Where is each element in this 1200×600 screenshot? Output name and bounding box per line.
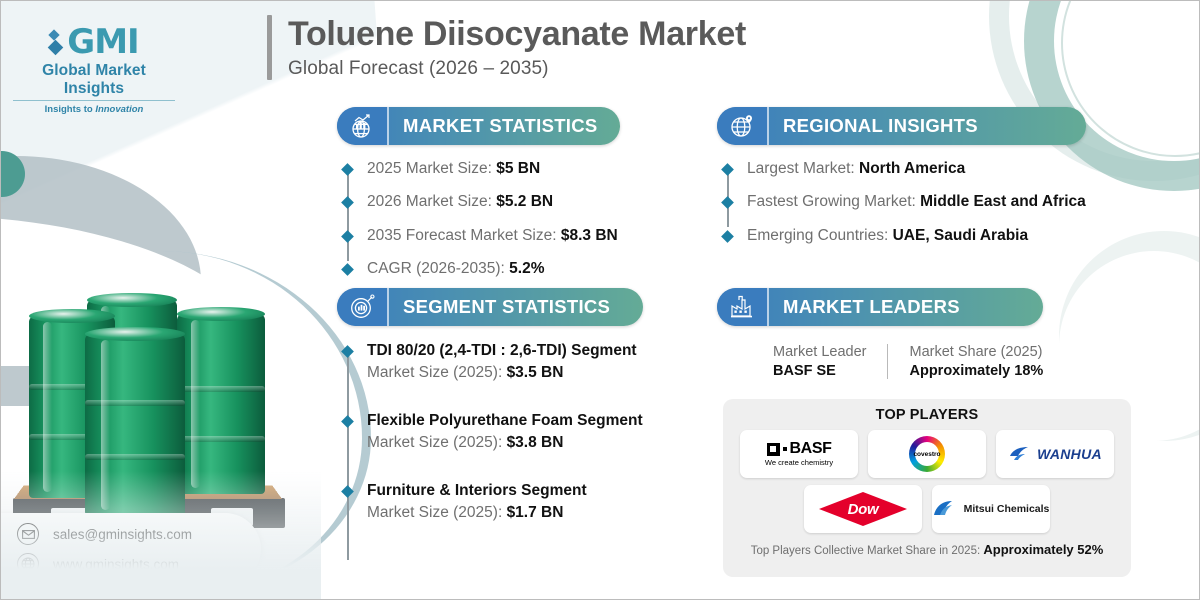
top-players-card: TOP PLAYERS BASF We create chemistry cov… [723,399,1131,577]
list-item-text: Fastest Growing Market: Middle East and … [747,192,1086,211]
contact-website: www.gminsights.com [53,557,179,572]
bullet-diamond-icon [341,163,354,176]
barrel-highlight [43,322,52,492]
barrel-rib [85,400,185,406]
market-share-label: Market Share (2025) [910,344,1044,360]
list-item: 2025 Market Size: $5 BN [367,159,620,178]
bullet-diamond-icon [341,345,354,358]
basf-logo-mark: BASF [765,441,833,457]
list-item-label: 2035 Forecast Market Size: [367,227,561,244]
section-title: SEGMENT STATISTICS [389,296,632,318]
section-header-market-statistics: MARKET STATISTICS [337,107,620,145]
barrel-rib [85,454,185,460]
top-players-row-2: Dow Mitsui Chemicals [735,485,1119,533]
wanhua-mark-icon [1008,445,1032,463]
segment-item: Flexible Polyurethane Foam Segment Marke… [367,412,643,452]
list-item: 2026 Market Size: $5.2 BN [367,192,620,211]
section-header-segment-statistics: SEGMENT STATISTICS [337,288,643,326]
covestro-wordmark: covestro [913,451,940,458]
regional-insights-list: Largest Market: North America Fastest Gr… [717,159,1086,245]
segment-name: Furniture & Interiors Segment [367,482,643,500]
bullet-diamond-icon [721,163,734,176]
list-item-value: 5.2% [509,260,544,277]
list-item-text: Emerging Countries: UAE, Saudi Arabia [747,226,1028,245]
bullet-diamond-icon [721,197,734,210]
bullet-diamond-icon [721,230,734,243]
logo-card-covestro: covestro [868,430,986,478]
segment-size-value: $3.5 BN [507,364,564,381]
list-item-label: Fastest Growing Market: [747,193,920,210]
top-players-footer-label: Top Players Collective Market Share in 2… [751,545,984,557]
list-item-text: CAGR (2026-2035): 5.2% [367,259,545,278]
segment-size: Market Size (2025): $1.7 BN [367,504,643,522]
segment-size-value: $3.8 BN [507,434,564,451]
covestro-logo: covestro [909,436,945,472]
list-item: 2035 Forecast Market Size: $8.3 BN [367,226,620,245]
basf-logo: BASF We create chemistry [765,441,833,467]
section-market-statistics: MARKET STATISTICS 2025 Market Size: $5 B… [337,107,620,279]
market-leader-label: Market Leader [773,344,867,360]
page-title: Toluene Diisocyanate Market [288,15,746,54]
section-market-leaders: MARKET LEADERS Market Leader BASF SE Mar… [717,288,1043,379]
list-item-label: Largest Market: [747,160,859,177]
dow-logo: Dow [819,492,907,526]
mitsui-logo: Mitsui Chemicals [933,499,1050,519]
list-item-text: 2035 Forecast Market Size: $8.3 BN [367,226,618,245]
list-item-value: North America [859,160,965,177]
list-spine [347,165,349,261]
section-title: MARKET STATISTICS [389,115,620,137]
globe-icon [17,553,39,575]
list-item: Largest Market: North America [747,159,1086,178]
gmi-logo: GMI Global Market Insights Insights to I… [13,25,175,115]
market-leader-row: Market Leader BASF SE Market Share (2025… [717,344,1043,379]
segment-name: TDI 80/20 (2,4-TDI : 2,6-TDI) Segment [367,342,643,360]
factory-icon [717,288,769,326]
pie-target-icon [337,288,389,326]
bullet-diamond-icon [341,230,354,243]
logo-tagline-italic: Innovation [95,104,143,115]
market-share-col: Market Share (2025) Approximately 18% [887,344,1044,379]
market-leader-col: Market Leader BASF SE [773,344,887,379]
contact-email: sales@gminsights.com [53,527,192,542]
segment-item: TDI 80/20 (2,4-TDI : 2,6-TDI) Segment Ma… [367,342,643,382]
background-dot-teal [0,151,25,197]
logo-card-basf: BASF We create chemistry [740,430,858,478]
logo-card-mitsui: Mitsui Chemicals [932,485,1050,533]
product-image-barrels [9,286,299,536]
barrel [177,314,265,494]
segment-size-label: Market Size (2025): [367,434,507,451]
barrel-lid [177,307,265,321]
segment-item: Furniture & Interiors Segment Market Siz… [367,482,643,522]
logo-tagline: Insights to Innovation [13,104,175,115]
bullet-diamond-icon [341,263,354,276]
dow-wordmark: Dow [848,501,879,518]
segment-size-label: Market Size (2025): [367,364,507,381]
list-item-value: Middle East and Africa [920,193,1086,210]
section-title: MARKET LEADERS [769,296,982,318]
logo-company-name: Global Market Insights [13,62,175,101]
segment-size: Market Size (2025): $3.8 BN [367,434,643,452]
contact-card: sales@gminsights.com www.gminsights.com [0,513,261,585]
basf-square-icon [767,443,780,456]
envelope-icon [17,523,39,545]
logo-card-dow: Dow [804,485,922,533]
logo-card-wanhua: WANHUA [996,430,1114,478]
list-item-label: Emerging Countries: [747,227,893,244]
market-statistics-list: 2025 Market Size: $5 BN 2026 Market Size… [337,159,620,279]
section-regional-insights: REGIONAL INSIGHTS Largest Market: North … [717,107,1086,245]
page-subtitle: Global Forecast (2026 – 2035) [288,58,746,80]
title-accent-bar [267,15,272,80]
list-item: CAGR (2026-2035): 5.2% [367,259,620,278]
list-spine [347,348,349,560]
segment-size-value: $1.7 BN [507,504,564,521]
list-item-text: 2026 Market Size: $5.2 BN [367,192,553,211]
logo-tagline-prefix: Insights to [45,104,96,115]
list-item-value: $5 BN [496,160,540,177]
wanhua-logo: WANHUA [1008,445,1102,463]
market-leader-value: BASF SE [773,363,867,379]
segment-size: Market Size (2025): $3.5 BN [367,364,643,382]
top-players-footer-value: Approximately 52% [983,542,1103,557]
globe-pin-icon [717,107,769,145]
list-item-label: 2026 Market Size: [367,193,496,210]
logo-wordmark: GMI [67,25,138,59]
list-item-value: $5.2 BN [496,193,553,210]
wanhua-wordmark: WANHUA [1037,446,1102,462]
barrel-lid [87,293,177,307]
segment-size-label: Market Size (2025): [367,504,507,521]
barrel-lid [85,327,185,341]
segment-statistics-list: TDI 80/20 (2,4-TDI : 2,6-TDI) Segment Ma… [337,342,643,522]
section-title: REGIONAL INSIGHTS [769,115,1000,137]
logo-diamond-icon [48,40,64,56]
top-players-title: TOP PLAYERS [735,407,1119,423]
contact-website-row[interactable]: www.gminsights.com [17,553,261,575]
segment-name: Flexible Polyurethane Foam Segment [367,412,643,430]
section-header-regional-insights: REGIONAL INSIGHTS [717,107,1086,145]
barrel-highlight [191,320,200,488]
barrel [85,334,185,516]
gmi-logo-mark: GMI [13,25,175,59]
barrel-lid [29,309,115,323]
list-item: Fastest Growing Market: Middle East and … [747,192,1086,211]
market-share-value: Approximately 18% [910,363,1044,379]
page-title-block: Toluene Diisocyanate Market Global Forec… [267,15,746,80]
list-item: Emerging Countries: UAE, Saudi Arabia [747,226,1086,245]
list-item-label: 2025 Market Size: [367,160,496,177]
basf-wordmark: BASF [790,441,832,457]
mitsui-mark-icon [933,499,959,519]
list-item-label: CAGR (2026-2035): [367,260,509,277]
mitsui-wordmark: Mitsui Chemicals [964,503,1050,515]
section-header-market-leaders: MARKET LEADERS [717,288,1043,326]
bullet-diamond-icon [341,415,354,428]
basf-dot-icon [783,447,787,451]
bullet-diamond-icon [341,197,354,210]
list-item-text: 2025 Market Size: $5 BN [367,159,540,178]
contact-email-row[interactable]: sales@gminsights.com [17,523,261,545]
globe-chart-icon [337,107,389,145]
barrel-highlight [101,340,110,510]
basf-tagline: We create chemistry [765,459,833,467]
top-players-row-1: BASF We create chemistry covestro WANHUA [735,430,1119,478]
infographic-canvas: GMI Global Market Insights Insights to I… [0,0,1200,600]
top-players-footer: Top Players Collective Market Share in 2… [735,542,1119,557]
list-item-text: Largest Market: North America [747,159,965,178]
list-item-value: $8.3 BN [561,227,618,244]
section-segment-statistics: SEGMENT STATISTICS TDI 80/20 (2,4-TDI : … [337,288,643,522]
bullet-diamond-icon [341,485,354,498]
list-item-value: UAE, Saudi Arabia [893,227,1029,244]
